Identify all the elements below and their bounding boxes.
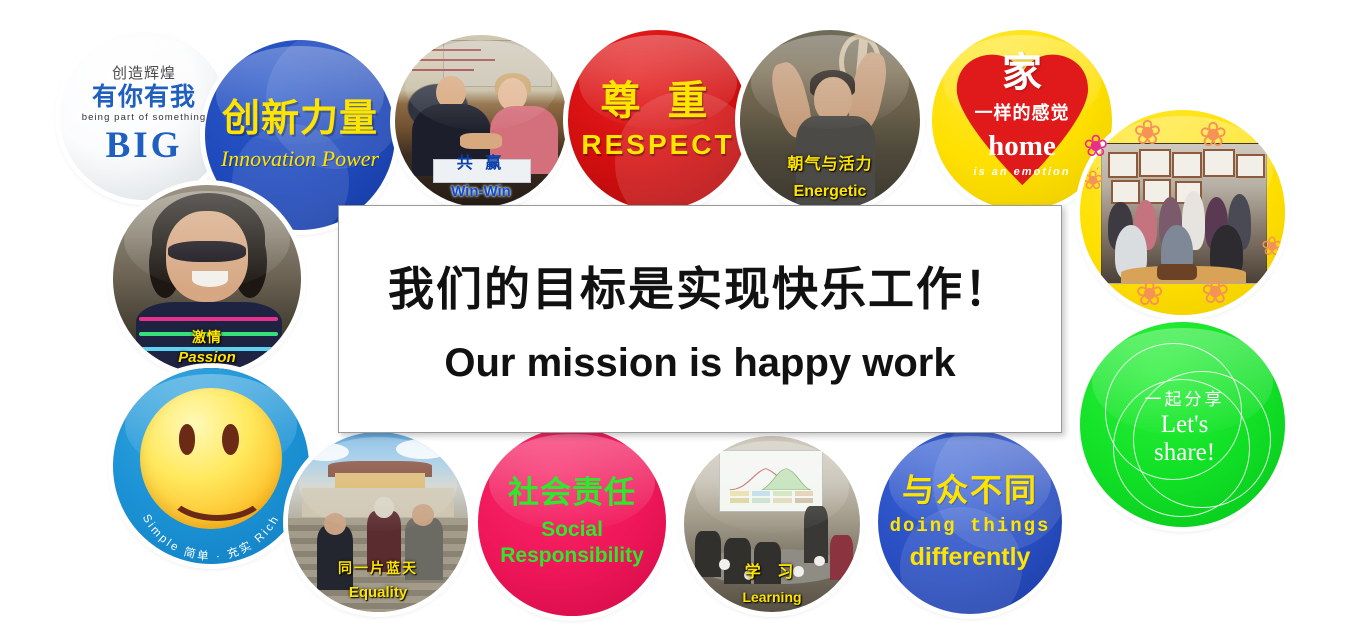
woman-sunglasses-photo: 激情 Passion bbox=[113, 185, 301, 373]
passion-english: Passion bbox=[113, 350, 301, 366]
social-chinese: 社会责任 bbox=[478, 477, 666, 510]
passion-chinese: 激情 bbox=[113, 330, 301, 345]
chart-curve bbox=[728, 464, 814, 492]
chart-legend-box bbox=[795, 491, 813, 496]
group-photo bbox=[1101, 143, 1267, 284]
board-line bbox=[412, 49, 481, 51]
flower-icon: ❀ bbox=[1199, 118, 1228, 154]
chart-legend-box bbox=[730, 491, 748, 496]
rope-climb-photo: 朝气与活力 Energetic bbox=[740, 30, 920, 210]
chart-legend-box bbox=[752, 491, 770, 496]
mission-chinese: 我们的目标是实现快乐工作！ bbox=[388, 253, 1012, 319]
person-head bbox=[412, 504, 434, 526]
person-standing bbox=[804, 506, 829, 562]
cloud-shape bbox=[302, 443, 349, 461]
training-room-photo: 学 习 Learning bbox=[684, 436, 860, 612]
learning-chinese: 学 习 bbox=[684, 565, 860, 582]
wall-frame bbox=[1108, 152, 1138, 178]
big-line3: being part of something bbox=[60, 113, 228, 123]
energetic-chinese: 朝气与活力 bbox=[740, 157, 920, 174]
bubble-lets-share[interactable]: 一起分享 Let's share! bbox=[1080, 322, 1285, 527]
wall-frame bbox=[1172, 152, 1202, 178]
bubble-win-win[interactable]: 共 赢 Win-Win bbox=[395, 35, 567, 207]
mission-english: Our mission is happy work bbox=[444, 341, 955, 386]
sunglasses-shape bbox=[168, 241, 247, 262]
share-english-line1: Let's bbox=[1084, 412, 1285, 438]
curved-caption: Simple 简单 · 充实 Rich bbox=[113, 368, 309, 564]
innovation-english: Innovation Power bbox=[205, 147, 395, 170]
big-line4: BIG bbox=[60, 127, 228, 166]
bubble-energetic[interactable]: 朝气与活力 Energetic bbox=[740, 30, 920, 210]
wall-frame bbox=[1111, 180, 1140, 204]
equality-chinese: 同一片蓝天 bbox=[288, 561, 468, 576]
different-english-line1: doing things bbox=[878, 517, 1062, 537]
handshake-photo bbox=[395, 35, 567, 207]
home-line4: is an emotion bbox=[932, 167, 1112, 179]
flower-icon: ❀ bbox=[1261, 233, 1283, 260]
winwin-chinese: 共 赢 bbox=[395, 156, 567, 173]
board-line bbox=[412, 59, 495, 61]
svg-text:Simple 简单 · 充实 Rich: Simple 简单 · 充实 Rich bbox=[140, 513, 282, 564]
chart-legend-box bbox=[773, 491, 791, 496]
energetic-english: Energetic bbox=[740, 184, 920, 201]
bubble-passion[interactable]: 激情 Passion bbox=[113, 185, 301, 373]
bubble-learning[interactable]: 学 习 Learning bbox=[684, 436, 860, 612]
great-wall-photo: 同一片蓝天 Equality bbox=[288, 432, 468, 612]
innovation-chinese: 创新力量 bbox=[205, 100, 395, 140]
chart-legend-box bbox=[773, 498, 791, 503]
handshake-shape bbox=[460, 133, 501, 148]
person-head bbox=[324, 513, 346, 535]
bubble-text-group: 一起分享 Let's share! bbox=[1084, 391, 1285, 465]
learning-english: Learning bbox=[684, 590, 860, 605]
pavilion-body bbox=[335, 473, 425, 487]
chart-legend-box bbox=[752, 498, 770, 503]
home-line1: 家 bbox=[932, 52, 1112, 94]
mission-banner: 我们的目标是实现快乐工作！ Our mission is happy work bbox=[338, 205, 1062, 433]
share-english-line2: share! bbox=[1084, 440, 1285, 466]
bubble-doing-things-differently[interactable]: 与众不同 doing things differently bbox=[878, 430, 1062, 614]
smile-shape bbox=[192, 271, 228, 286]
social-english-line1: Social bbox=[478, 519, 666, 541]
social-english-line2: Responsibility bbox=[478, 545, 666, 567]
bubble-text-group: 社会责任 Social Responsibility bbox=[478, 477, 666, 568]
smile-arc-text: Simple 简单 · 充实 Rich bbox=[140, 513, 282, 564]
board-line bbox=[412, 69, 474, 71]
bubble-text-group: 创新力量 Innovation Power bbox=[205, 100, 395, 171]
bubble-being-part-of-something-big[interactable]: 创造辉煌 有你有我 being part of something BIG bbox=[60, 32, 228, 200]
flower-icon: ❀ bbox=[1133, 116, 1162, 152]
bubble-equality[interactable]: 同一片蓝天 Equality bbox=[288, 432, 468, 612]
chart-legend-box bbox=[795, 498, 813, 503]
cloud-shape bbox=[396, 439, 450, 459]
winwin-english: Win-Win bbox=[395, 184, 567, 200]
wall-frame bbox=[1139, 149, 1171, 177]
big-line2: 有你有我 bbox=[60, 84, 228, 110]
bubble-social-responsibility[interactable]: 社会责任 Social Responsibility bbox=[478, 428, 666, 616]
respect-chinese: 尊 重 bbox=[568, 80, 748, 122]
bubble-text-group: 创造辉煌 有你有我 being part of something BIG bbox=[60, 66, 228, 166]
person-shape bbox=[317, 526, 353, 591]
bubble-simple-rich-smiley[interactable]: Simple 简单 · 充实 Rich bbox=[113, 368, 309, 564]
equality-english: Equality bbox=[288, 585, 468, 601]
flower-icon: ❀ bbox=[1201, 275, 1230, 311]
bubble-text-group: 尊 重 RESPECT bbox=[568, 80, 748, 159]
bubble-text-group: 与众不同 doing things differently bbox=[878, 474, 1062, 570]
wall-frame bbox=[1236, 154, 1265, 179]
share-chinese: 一起分享 bbox=[1084, 391, 1285, 409]
bubble-respect[interactable]: 尊 重 RESPECT bbox=[568, 30, 748, 210]
home-line3: home bbox=[932, 131, 1112, 161]
sweater-stripe bbox=[139, 317, 278, 321]
person-head bbox=[814, 77, 852, 122]
different-chinese: 与众不同 bbox=[878, 474, 1062, 508]
chart-legend-box bbox=[730, 498, 748, 503]
big-line1: 创造辉煌 bbox=[60, 66, 228, 82]
different-english-line2: differently bbox=[878, 544, 1062, 570]
poster-canvas: 创造辉煌 有你有我 being part of something BIG 创新… bbox=[0, 0, 1366, 635]
flower-icon: ❀ bbox=[1135, 277, 1164, 313]
respect-english: RESPECT bbox=[568, 130, 748, 159]
home-line2: 一样的感觉 bbox=[932, 104, 1112, 123]
projector-screen bbox=[719, 450, 823, 512]
